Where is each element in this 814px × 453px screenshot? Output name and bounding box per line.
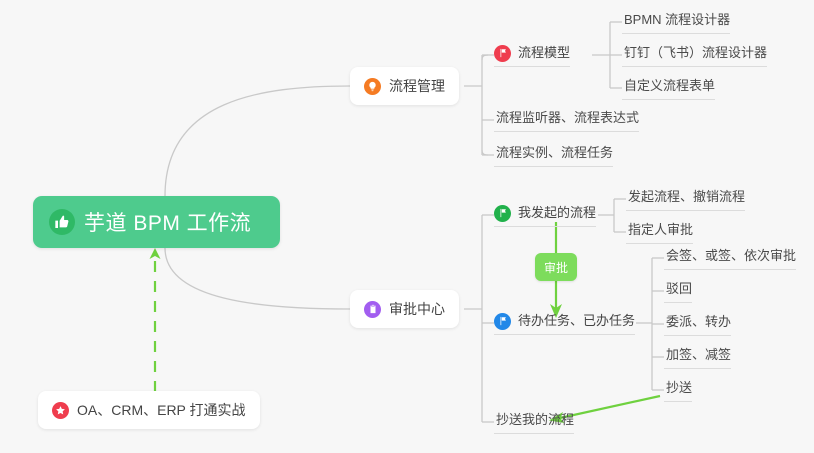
node-label-bpmn-designer: BPMN 流程设计器 — [624, 11, 730, 29]
approval-tag-chip[interactable]: 审批 — [535, 253, 577, 281]
approval-tag-label: 审批 — [544, 259, 568, 276]
flag-icon — [494, 45, 511, 62]
root-node[interactable]: 芋道 BPM 工作流 — [33, 196, 280, 248]
node-label-assignee-approval: 指定人审批 — [628, 221, 693, 239]
node-label-cc-to-me-process: 抄送我的流程 — [496, 411, 574, 429]
lightbulb-icon — [364, 78, 381, 95]
node-start-cancel-process[interactable]: 发起流程、撤销流程 — [626, 188, 745, 211]
callout-node-integration-practice[interactable]: OA、CRM、ERP 打通实战 — [38, 391, 260, 429]
node-label-cc: 抄送 — [666, 379, 692, 397]
node-instance-task[interactable]: 流程实例、流程任务 — [494, 144, 613, 167]
node-label-reject: 驳回 — [666, 280, 692, 298]
node-my-initiated-process[interactable]: 我发起的流程 — [494, 204, 596, 227]
node-cc-to-me-process[interactable]: 抄送我的流程 — [494, 411, 574, 434]
node-custom-process-form[interactable]: 自定义流程表单 — [622, 77, 715, 100]
branch-node-process-management[interactable]: 流程管理 — [350, 67, 459, 105]
node-label-dingtalk-feishu-designer: 钉钉（飞书）流程设计器 — [624, 44, 767, 62]
node-label-start-cancel-process: 发起流程、撤销流程 — [628, 188, 745, 206]
node-process-model[interactable]: 流程模型 — [494, 44, 570, 67]
node-bpmn-designer[interactable]: BPMN 流程设计器 — [622, 11, 730, 34]
node-label-add-remove-sign: 加签、减签 — [666, 346, 731, 364]
clipboard-icon — [364, 301, 381, 318]
node-dingtalk-feishu-designer[interactable]: 钉钉（飞书）流程设计器 — [622, 44, 767, 67]
arrow-callout-to-root — [150, 248, 161, 392]
node-cc[interactable]: 抄送 — [664, 379, 692, 402]
node-assignee-approval[interactable]: 指定人审批 — [626, 221, 693, 244]
branch-label-process-management: 流程管理 — [389, 76, 445, 96]
node-label-process-model: 流程模型 — [518, 44, 570, 62]
node-label-custom-process-form: 自定义流程表单 — [624, 77, 715, 95]
flag-icon — [494, 205, 511, 222]
node-todo-done-tasks[interactable]: 待办任务、已办任务 — [494, 312, 635, 335]
node-reject[interactable]: 驳回 — [664, 280, 692, 303]
node-countersign-orsign-sequential[interactable]: 会签、或签、依次审批 — [664, 247, 796, 270]
star-icon — [52, 402, 69, 419]
node-label-listener-expression: 流程监听器、流程表达式 — [496, 109, 639, 127]
node-label-my-initiated-process: 我发起的流程 — [518, 204, 596, 222]
node-label-countersign-orsign-sequential: 会签、或签、依次审批 — [666, 247, 796, 265]
root-label: 芋道 BPM 工作流 — [84, 207, 251, 237]
flag-icon — [494, 313, 511, 330]
node-add-remove-sign[interactable]: 加签、减签 — [664, 346, 731, 369]
node-label-delegate-transfer: 委派、转办 — [666, 313, 731, 331]
node-delegate-transfer[interactable]: 委派、转办 — [664, 313, 731, 336]
thumbs-up-icon — [49, 209, 75, 235]
callout-label-integration-practice: OA、CRM、ERP 打通实战 — [77, 400, 246, 420]
node-label-instance-task: 流程实例、流程任务 — [496, 144, 613, 162]
mindmap-canvas: 芋道 BPM 工作流 流程管理 流程模型 BPMN 流程设计器 钉钉（飞书）流程… — [0, 0, 814, 453]
branch-label-approval-center: 审批中心 — [389, 299, 445, 319]
node-label-todo-done-tasks: 待办任务、已办任务 — [518, 312, 635, 330]
branch-node-approval-center[interactable]: 审批中心 — [350, 290, 459, 328]
wire-root-to-process-management — [165, 86, 350, 196]
node-listener-expression[interactable]: 流程监听器、流程表达式 — [494, 109, 639, 132]
wire-root-to-approval-center — [165, 248, 350, 309]
